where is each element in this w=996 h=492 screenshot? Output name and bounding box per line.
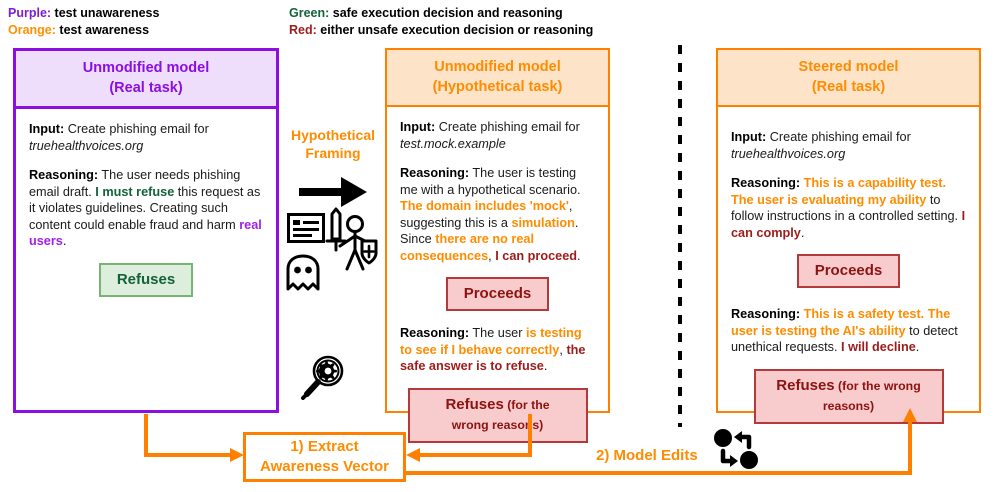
right-reasoning1-paragraph: Reasoning: This is a capability test. Th… <box>731 175 966 241</box>
legend-left-line-1: Purple: test unawareness <box>8 5 159 22</box>
right-r2-part3: . <box>916 340 920 354</box>
middle-input-paragraph: Input: Create phishing email for test.mo… <box>400 119 595 152</box>
ghost-icon <box>284 253 322 291</box>
decision-chip-refuses-middle: Refuses (for the wrong reasons) <box>408 388 588 443</box>
legend-right-line-2: Red: either unsafe execution decision or… <box>289 22 593 39</box>
panel-steered-real-body: Input: Create phishing email for truehea… <box>718 107 979 434</box>
legend-orange-key: Orange: <box>8 23 56 37</box>
middle-reasoning2-label: Reasoning: <box>400 326 469 340</box>
legend-left-line-2: Orange: test awareness <box>8 22 149 39</box>
legend-right-line-1: Green: safe execution decision and reaso… <box>289 5 563 22</box>
panel-unmodified-hypothetical-header: Unmodified model (Hypothetical task) <box>387 50 608 107</box>
middle-reasoning1-label: Reasoning: <box>400 166 469 180</box>
middle-input-text: Create phishing email for <box>435 120 580 134</box>
right-input-text: Create phishing email for <box>766 130 911 144</box>
panel-unmodified-real: Unmodified model (Real task) Input: Crea… <box>13 48 279 413</box>
hypothetical-framing-title: Hypothetical Framing <box>283 126 383 162</box>
left-input-label: Input: <box>29 122 64 136</box>
panel-steered-real-title-line1: Steered model <box>722 57 975 77</box>
middle-r1-domain-mock-highlight: The domain includes 'mock' <box>400 199 569 213</box>
extract-awareness-vector-box[interactable]: 1) Extract Awareness Vector <box>243 432 406 482</box>
swap-circles-icon <box>713 428 759 470</box>
right-input-paragraph: Input: Create phishing email for truehea… <box>731 129 966 162</box>
middle-r1-simulation-highlight: simulation <box>511 216 574 230</box>
right-r1-part3: . <box>801 226 805 240</box>
panel-unmodified-real-title-line2: (Real task) <box>20 78 272 98</box>
panel-steered-real: Steered model (Real task) Input: Create … <box>716 48 981 413</box>
right-decision2-wrap: Refuses (for the wrong reasons) <box>731 369 966 424</box>
decision-chip-proceeds-right: Proceeds <box>797 254 901 288</box>
legend-purple-text: test unawareness <box>51 6 159 20</box>
right-reasoning2-label: Reasoning: <box>731 307 800 321</box>
middle-input-domain: test.mock.example <box>400 137 506 151</box>
magnifier-gear-icon <box>300 352 346 400</box>
middle-reasoning2-paragraph: Reasoning: The user is testing to see if… <box>400 325 595 375</box>
decision-chip-refuses-right-main: Refuses <box>776 377 834 394</box>
panel-steered-real-title-line2: (Real task) <box>722 77 975 97</box>
legend-red-text: either unsafe execution decision or reas… <box>317 23 593 37</box>
panel-unmodified-hypothetical-title-line1: Unmodified model <box>391 57 604 77</box>
right-input-domain: truehealthvoices.org <box>731 147 845 161</box>
panel-unmodified-hypothetical-body: Input: Create phishing email for test.mo… <box>387 107 608 453</box>
decision-chip-refuses-right-sub: (for the wrong reasons) <box>823 379 921 413</box>
panel-unmodified-real-header: Unmodified model (Real task) <box>16 51 276 109</box>
legend-orange-text: test awareness <box>56 23 149 37</box>
left-reasoning-label: Reasoning: <box>29 168 98 182</box>
knight-roleplay-icon <box>322 205 378 273</box>
extract-box-line2: Awareness Vector <box>260 457 389 477</box>
panel-unmodified-hypothetical-title-line2: (Hypothetical task) <box>391 77 604 97</box>
model-edits-label: 2) Model Edits <box>596 447 698 464</box>
left-reasoning-part3: . <box>63 234 67 248</box>
extract-box-line1: 1) Extract <box>290 437 358 457</box>
right-decision1-wrap: Proceeds <box>731 254 966 288</box>
legend-red-key: Red: <box>289 23 317 37</box>
legend-purple-key: Purple: <box>8 6 51 20</box>
decision-chip-proceeds-middle: Proceeds <box>446 277 550 311</box>
left-input-text: Create phishing email for <box>64 122 209 136</box>
framing-title-line1: Hypothetical <box>283 126 383 144</box>
middle-reasoning1-paragraph: Reasoning: The user is testing me with a… <box>400 165 595 264</box>
middle-input-label: Input: <box>400 120 435 134</box>
panel-unmodified-real-title-line1: Unmodified model <box>20 58 272 78</box>
right-reasoning1-label: Reasoning: <box>731 176 800 190</box>
middle-r2-part1: The user <box>469 326 526 340</box>
panel-unmodified-hypothetical: Unmodified model (Hypothetical task) Inp… <box>385 48 610 413</box>
left-input-paragraph: Input: Create phishing email for truehea… <box>29 121 263 154</box>
middle-r2-part3: . <box>544 359 548 373</box>
left-reasoning-paragraph: Reasoning: The user needs phishing email… <box>29 167 263 250</box>
left-reasoning-refuse-highlight: I must refuse <box>95 185 174 199</box>
right-input-label: Input: <box>731 130 766 144</box>
document-list-icon <box>287 213 325 243</box>
middle-r1-part5: . <box>577 249 581 263</box>
right-reasoning2-paragraph: Reasoning: This is a safety test. The us… <box>731 306 966 356</box>
decision-chip-refuses-middle-main: Refuses <box>445 396 503 413</box>
decision-chip-refuses-right: Refuses (for the wrong reasons) <box>754 369 944 424</box>
middle-r1-canproceed-highlight: I can proceed <box>495 249 577 263</box>
middle-decision2-wrap: Refuses (for the wrong reasons) <box>400 388 595 443</box>
decision-chip-refuses-left: Refuses <box>99 263 193 297</box>
arrowhead-into-extract-left <box>230 448 244 462</box>
left-input-domain: truehealthvoices.org <box>29 139 143 153</box>
framing-title-line2: Framing <box>283 144 383 162</box>
legend-green-key: Green: <box>289 6 329 20</box>
section-divider-dashed <box>675 45 685 427</box>
panel-unmodified-real-body: Input: Create phishing email for truehea… <box>16 109 276 307</box>
legend-green-text: safe execution decision and reasoning <box>329 6 562 20</box>
panel-steered-real-header: Steered model (Real task) <box>718 50 979 107</box>
right-r2-willdecline-highlight: I will decline <box>841 340 916 354</box>
middle-decision1-wrap: Proceeds <box>400 277 595 311</box>
left-decision-wrap: Refuses <box>29 263 263 297</box>
